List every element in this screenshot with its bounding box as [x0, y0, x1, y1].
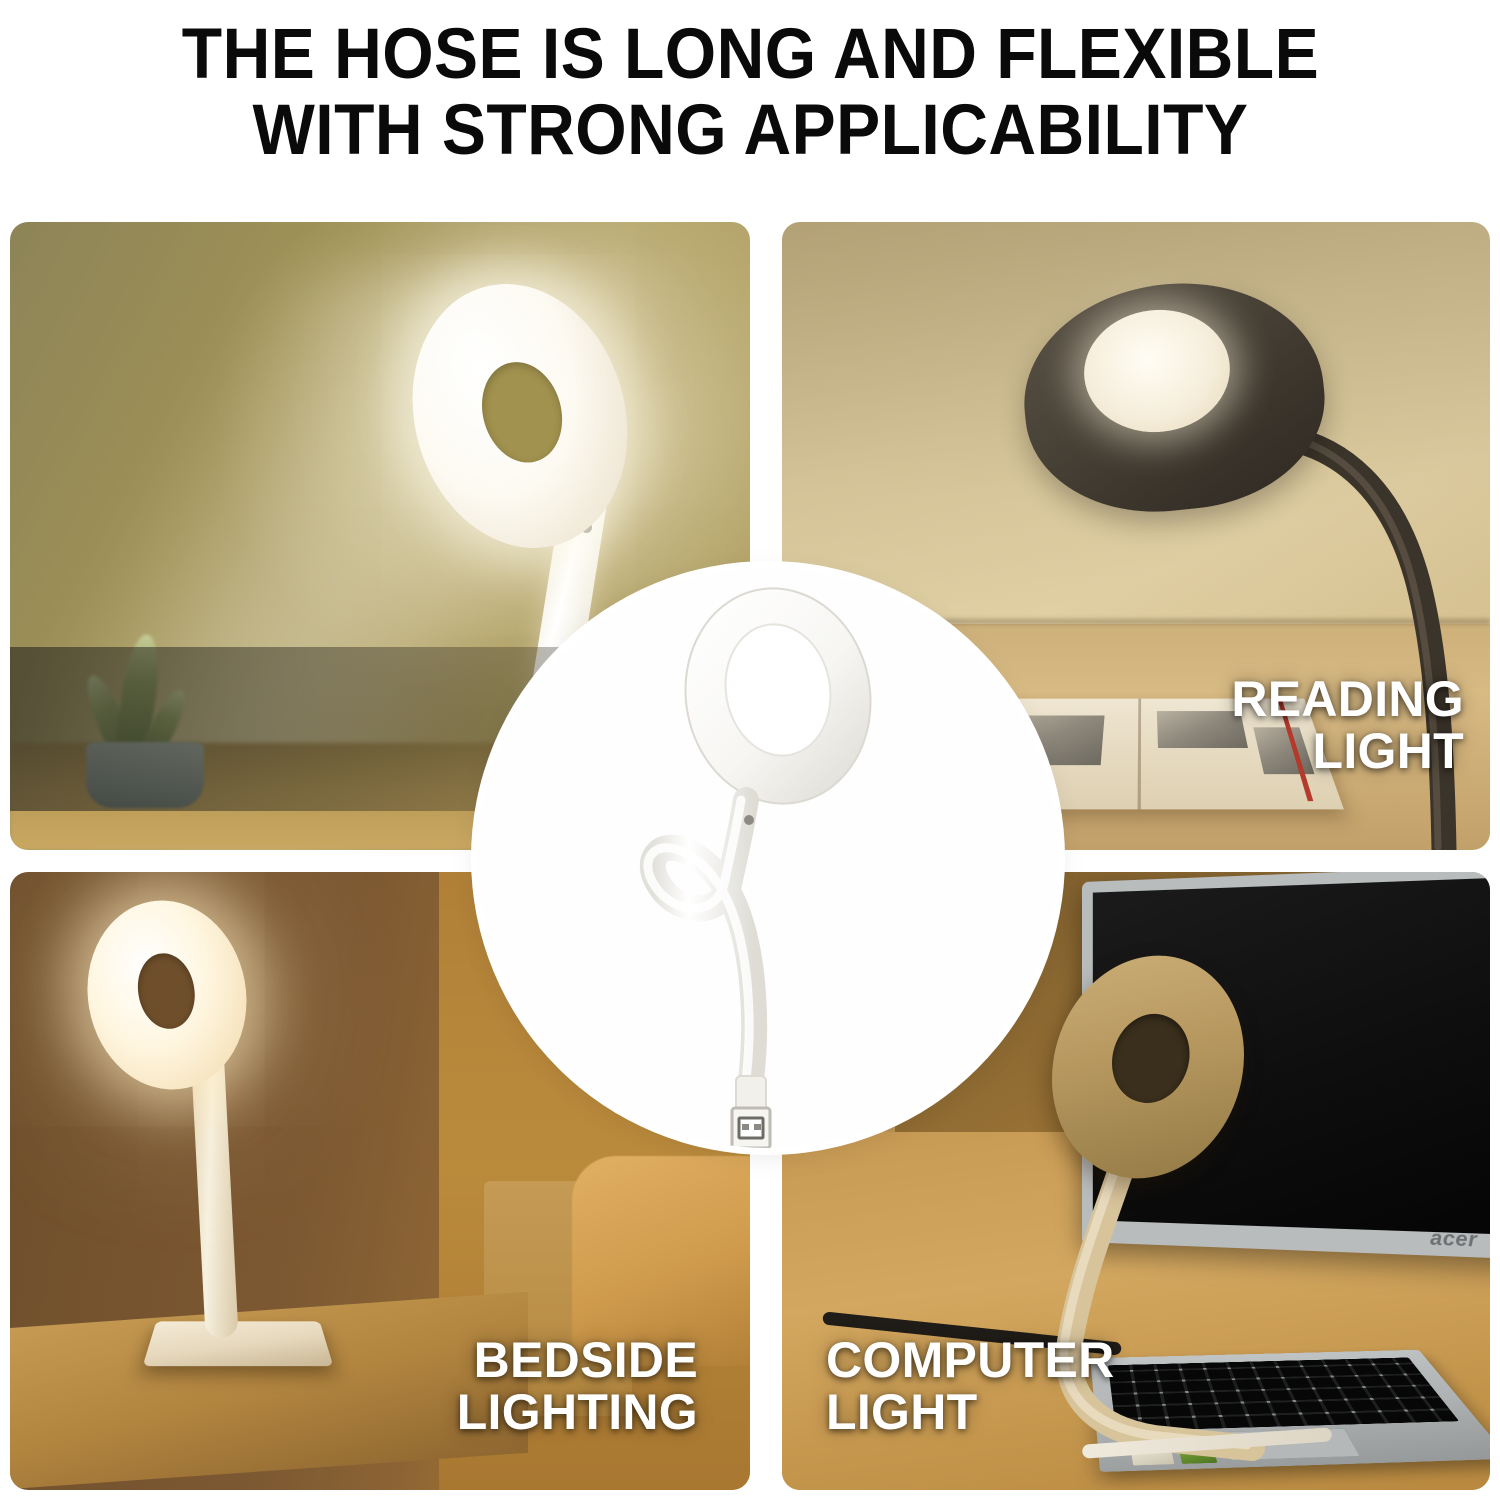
headline-line-1: THE HOSE IS LONG AND FLEXIBLE: [181, 20, 1318, 90]
usb-contact-pin: [742, 1124, 749, 1130]
product-feature-collage: THE HOSE IS LONG AND FLEXIBLE WITH STRON…: [0, 0, 1500, 1500]
headline-line-2: WITH STRONG APPLICABILITY: [252, 96, 1248, 166]
caption-bedside-lighting: BEDSIDE LIGHTING: [457, 1335, 698, 1438]
usb-contact-pin: [754, 1124, 761, 1130]
touch-button-icon: [744, 815, 754, 825]
lamp-power-bank-base: [143, 1321, 334, 1366]
product-lamp-illustration: [478, 568, 1058, 1148]
headline-block: THE HOSE IS LONG AND FLEXIBLE WITH STRON…: [0, 0, 1500, 186]
product-hero-circle: [478, 568, 1058, 1148]
caption-reading-light: READING LIGHT: [1231, 674, 1464, 777]
caption-computer-light: COMPUTER LIGHT: [826, 1335, 1115, 1438]
